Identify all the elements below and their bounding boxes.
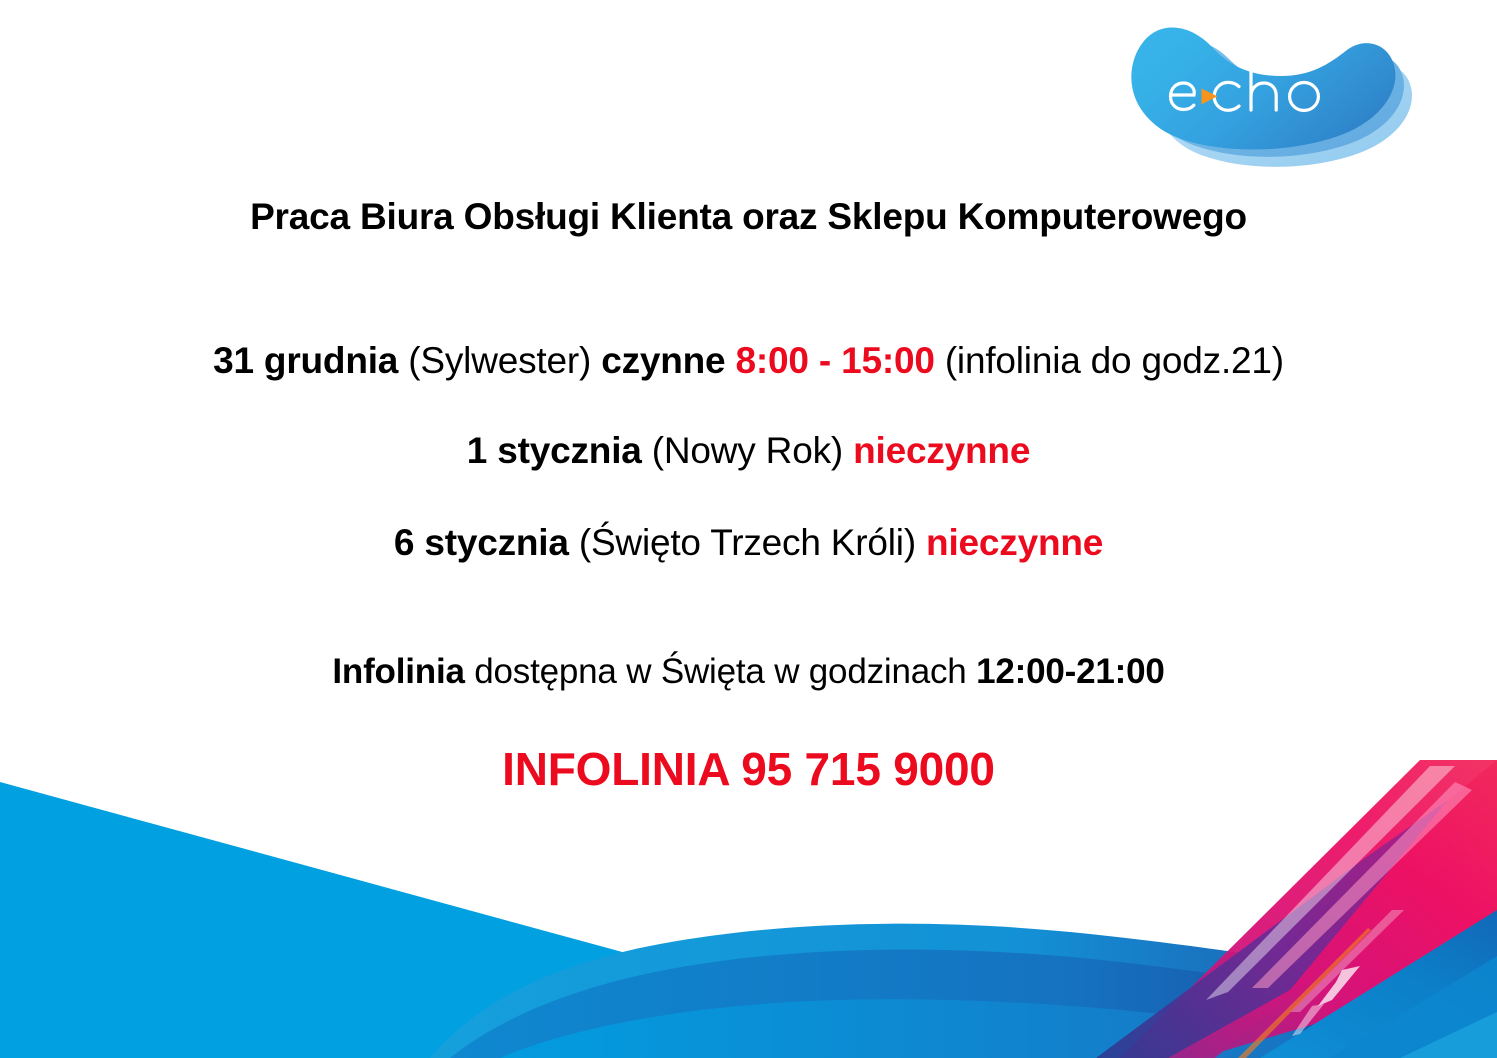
notice-row-6-stycznia: 6 stycznia (Święto Trzech Króli) nieczyn…: [0, 522, 1497, 564]
hotline-phone-number: INFOLINIA 95 715 9000: [0, 742, 1497, 796]
poster: Praca Biura Obsługi Klienta oraz Sklepu …: [0, 0, 1497, 1058]
row1-hours: 8:00 - 15:00: [736, 340, 935, 381]
page-title: Praca Biura Obsługi Klienta oraz Sklepu …: [0, 196, 1497, 238]
notice-row-31-grudnia: 31 grudnia (Sylwester) czynne 8:00 - 15:…: [0, 340, 1497, 382]
row3-date: 6 stycznia: [394, 522, 569, 563]
hotline-middle-text: dostępna w Święta w godzinach: [474, 652, 966, 691]
hotline-hours: 12:00-21:00: [976, 652, 1165, 691]
row3-status: nieczynne: [926, 522, 1103, 563]
hotline-label: Infolinia: [332, 652, 464, 691]
hotline-availability-row: Infolinia dostępna w Święta w godzinach …: [0, 652, 1497, 692]
row3-holiday: (Święto Trzech Króli): [579, 522, 916, 563]
notice-content: Praca Biura Obsługi Klienta oraz Sklepu …: [0, 0, 1497, 1058]
notice-row-1-stycznia: 1 stycznia (Nowy Rok) nieczynne: [0, 430, 1497, 472]
row1-holiday: (Sylwester): [408, 340, 591, 381]
row1-date: 31 grudnia: [213, 340, 398, 381]
row2-status: nieczynne: [853, 430, 1030, 471]
row2-date: 1 stycznia: [467, 430, 642, 471]
row2-holiday: (Nowy Rok): [652, 430, 843, 471]
row1-note: (infolinia do godz.21): [945, 340, 1284, 381]
row1-status-label: czynne: [601, 340, 725, 381]
